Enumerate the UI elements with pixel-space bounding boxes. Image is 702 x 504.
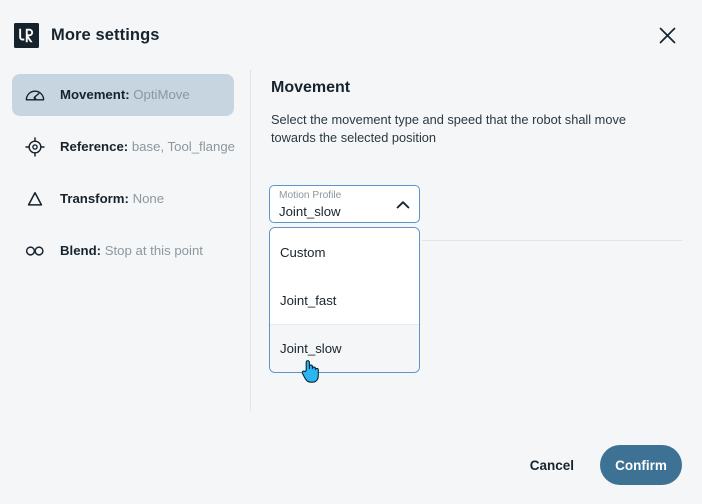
ur-logo-icon xyxy=(14,23,39,48)
sidebar-item-movement[interactable]: Movement: OptiMove xyxy=(12,74,234,116)
infinity-icon xyxy=(22,238,48,264)
sidebar-item-label: Transform: None xyxy=(60,192,164,205)
sidebar-item-key: Blend: xyxy=(60,243,101,258)
sidebar-item-value: None xyxy=(133,191,165,206)
sidebar-item-label: Movement: OptiMove xyxy=(60,88,190,101)
chevron-up-icon[interactable] xyxy=(395,197,411,213)
cancel-button[interactable]: Cancel xyxy=(514,448,590,483)
triangle-icon xyxy=(22,186,48,212)
motion-profile-select-wrapper: Motion Profile Joint_slow xyxy=(269,185,420,223)
page-title: More settings xyxy=(51,26,160,45)
dropdown-option-joint-slow[interactable]: Joint_slow xyxy=(270,324,419,372)
motion-profile-value: Joint_slow xyxy=(279,204,385,221)
dropdown-option-custom[interactable]: Custom xyxy=(270,228,419,276)
dialog-header: More settings xyxy=(0,0,702,70)
content-description: Select the movement type and speed that … xyxy=(271,111,646,147)
sidebar-item-reference[interactable]: Reference: base, Tool_flange xyxy=(12,126,234,168)
confirm-button[interactable]: Confirm xyxy=(600,445,682,485)
settings-content-panel: Movement Select the movement type and sp… xyxy=(271,78,683,148)
content-heading: Movement xyxy=(271,78,683,97)
motion-profile-dropdown: Custom Joint_fast Joint_slow xyxy=(269,227,420,373)
dialog-footer: Cancel Confirm xyxy=(0,426,702,504)
sidebar-item-transform[interactable]: Transform: None xyxy=(12,178,234,220)
sidebar-item-value: OptiMove xyxy=(133,87,189,102)
sidebar-item-label: Blend: Stop at this point xyxy=(60,244,203,257)
speedometer-icon xyxy=(22,82,48,108)
motion-profile-label: Motion Profile xyxy=(279,190,385,203)
sidebar-item-key: Reference: xyxy=(60,139,128,154)
sidebar-item-key: Movement: xyxy=(60,87,130,102)
sidebar-item-value: Stop at this point xyxy=(105,243,203,258)
motion-profile-select[interactable]: Motion Profile Joint_slow xyxy=(269,185,420,223)
sidebar-item-value: base, Tool_flange xyxy=(132,139,235,154)
sidebar-item-blend[interactable]: Blend: Stop at this point xyxy=(12,230,234,272)
settings-sidebar: Movement: OptiMove Reference: base, Tool… xyxy=(12,74,234,282)
close-icon[interactable] xyxy=(652,20,682,50)
sidebar-item-key: Transform: xyxy=(60,191,129,206)
panel-divider xyxy=(250,70,251,411)
dropdown-option-joint-fast[interactable]: Joint_fast xyxy=(270,276,419,324)
sidebar-item-label: Reference: base, Tool_flange xyxy=(60,140,235,153)
content-section-divider xyxy=(422,240,682,241)
target-crosshair-icon xyxy=(22,134,48,160)
